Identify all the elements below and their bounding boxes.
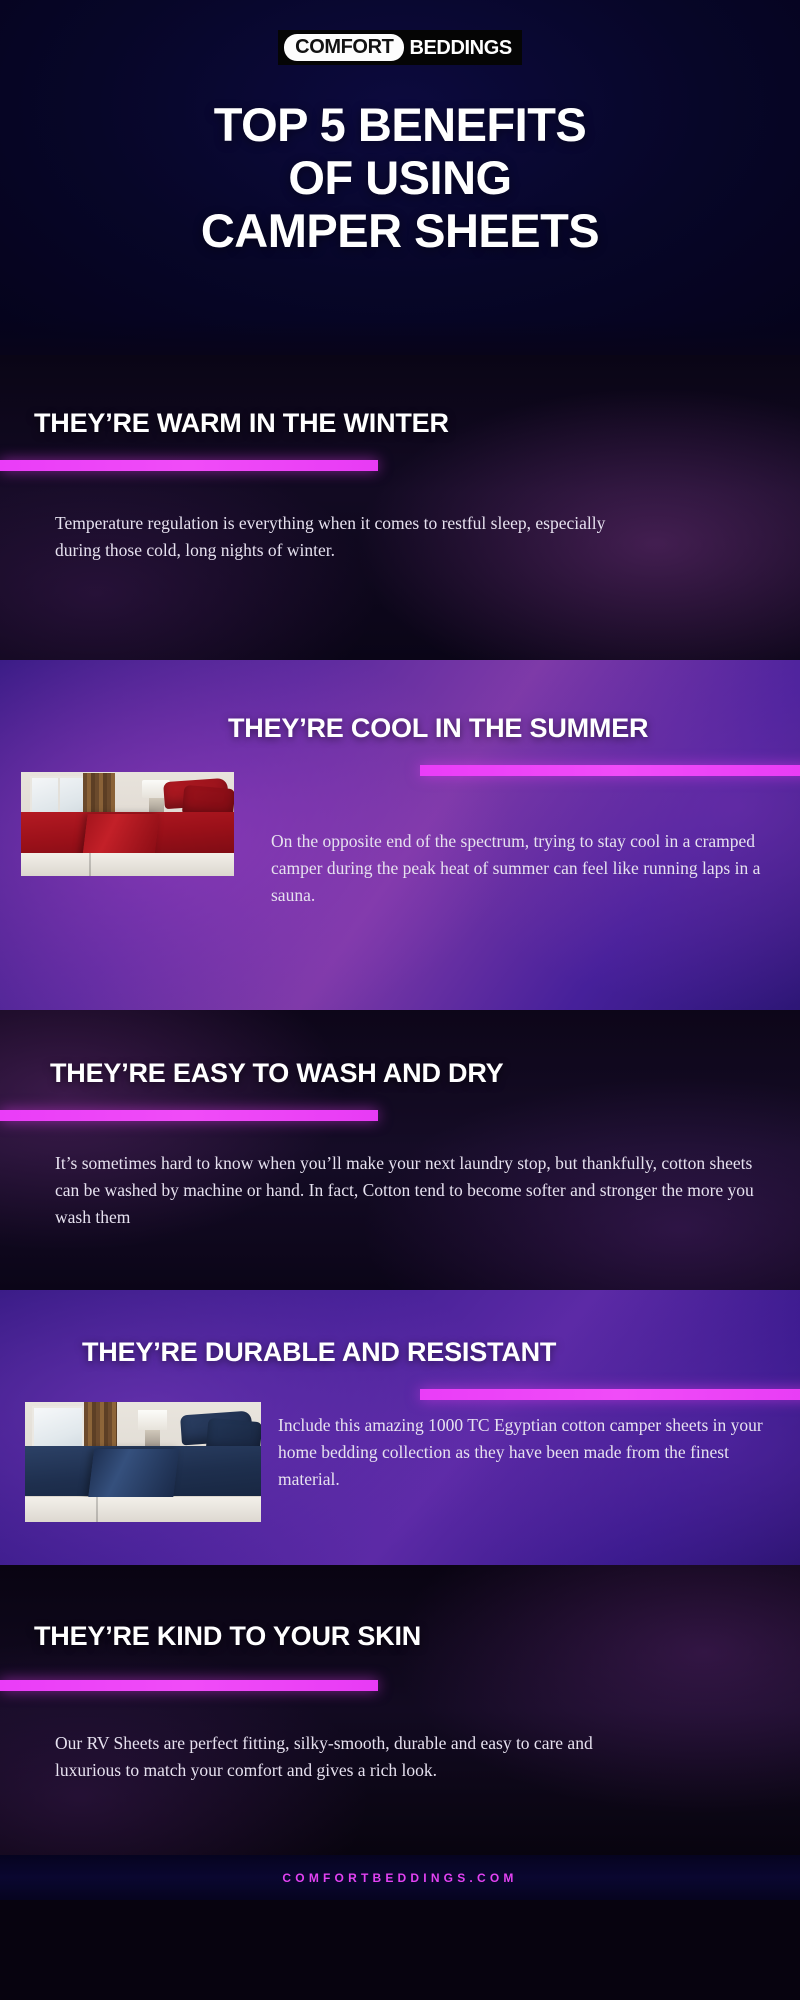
logo-lockup: COMFORT BEDDINGS xyxy=(278,30,522,65)
photo-sheet-fold xyxy=(82,814,160,858)
benefit-section-1: THEY’RE WARM IN THE WINTER Temperature r… xyxy=(0,355,800,660)
benefit-heading-4: THEY’RE DURABLE AND RESISTANT xyxy=(82,1336,556,1368)
benefit-heading-2: THEY’RE COOL IN THE SUMMER xyxy=(228,712,648,744)
infographic-page: COMFORT BEDDINGS TOP 5 BENEFITS OF USING… xyxy=(0,0,800,2000)
accent-bar-3 xyxy=(0,1110,378,1121)
accent-bar-2 xyxy=(420,765,800,776)
photo-bed-base xyxy=(21,853,234,876)
accent-bar-5 xyxy=(0,1680,378,1691)
benefit-section-3: THEY’RE EASY TO WASH AND DRY It’s someti… xyxy=(0,1010,800,1290)
benefit-section-4: THEY’RE DURABLE AND RESISTANT Include th… xyxy=(0,1290,800,1565)
benefit-heading-5: THEY’RE KIND TO YOUR SKIN xyxy=(34,1620,421,1652)
header-section: COMFORT BEDDINGS TOP 5 BENEFITS OF USING… xyxy=(0,0,800,355)
photo-bed-base xyxy=(25,1497,261,1522)
footer-bar: COMFORTBEDDINGS.COM xyxy=(0,1855,800,1900)
benefit-heading-3: THEY’RE EASY TO WASH AND DRY xyxy=(50,1057,503,1089)
benefit-body-3: It’s sometimes hard to know when you’ll … xyxy=(55,1150,770,1231)
red-bedding-photo xyxy=(21,772,234,876)
navy-bedding-photo xyxy=(25,1402,261,1522)
accent-bar-1 xyxy=(0,460,378,471)
footer-website-link[interactable]: COMFORTBEDDINGS.COM xyxy=(282,1871,517,1885)
brand-logo[interactable]: COMFORT BEDDINGS xyxy=(0,30,800,65)
photo-lamp-base xyxy=(145,1430,159,1448)
title-line-3: CAMPER SHEETS xyxy=(0,204,800,257)
accent-bar-4 xyxy=(420,1389,800,1400)
benefit-section-2: THEY’RE COOL IN THE SUMMER On the opposi… xyxy=(0,660,800,1010)
photo-sheet-fold xyxy=(88,1449,179,1501)
benefit-heading-1: THEY’RE WARM IN THE WINTER xyxy=(34,407,449,439)
logo-beddings-word: BEDDINGS xyxy=(409,37,511,59)
photo-lamp-shade xyxy=(138,1410,166,1429)
logo-comfort-pill: COMFORT xyxy=(284,34,404,61)
benefit-body-2: On the opposite end of the spectrum, try… xyxy=(271,828,791,909)
benefit-body-1: Temperature regulation is everything whe… xyxy=(55,510,655,564)
benefit-section-5: THEY’RE KIND TO YOUR SKIN Our RV Sheets … xyxy=(0,1565,800,1855)
benefit-body-5: Our RV Sheets are perfect fitting, silky… xyxy=(55,1730,655,1784)
page-title: TOP 5 BENEFITS OF USING CAMPER SHEETS xyxy=(0,98,800,257)
benefit-body-4: Include this amazing 1000 TC Egyptian co… xyxy=(278,1412,778,1493)
title-line-2: OF USING xyxy=(0,151,800,204)
title-line-1: TOP 5 BENEFITS xyxy=(0,98,800,151)
